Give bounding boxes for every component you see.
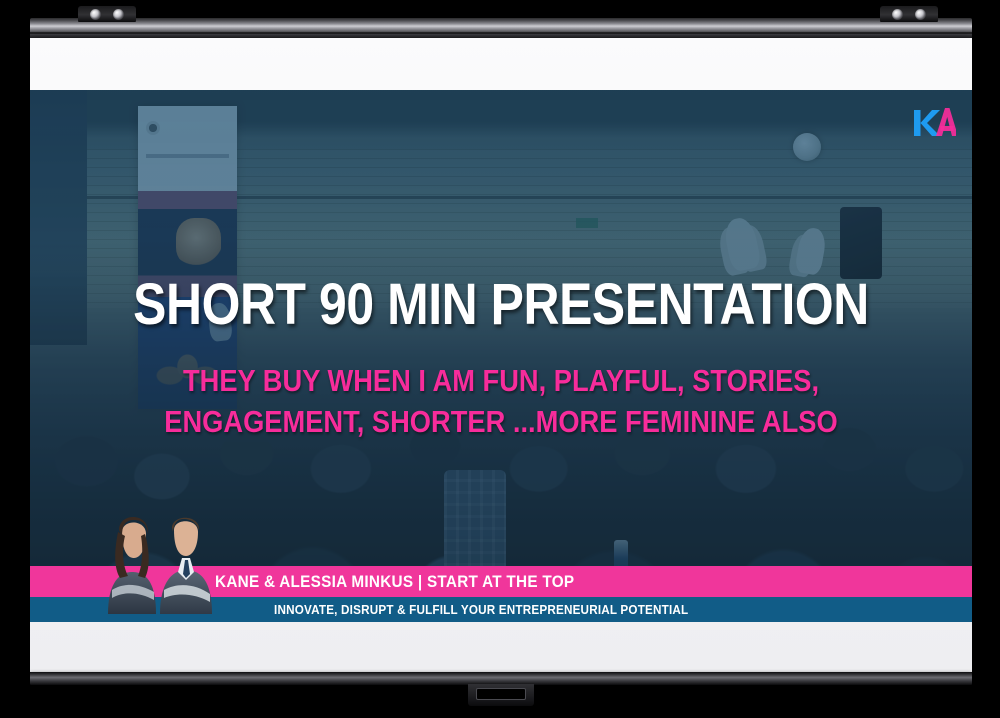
- projector-screen-assembly: SHORT 90 MIN PRESENTATION THEY BUY WHEN …: [0, 0, 1000, 718]
- footer-tagline: INNOVATE, DISRUPT & FULFILL YOUR ENTREPR…: [274, 602, 688, 617]
- wall-bracket-right: [880, 6, 938, 22]
- slide-subtitle-line-1: THEY BUY WHEN I AM FUN, PLAYFUL, STORIES…: [139, 360, 862, 401]
- wall-bracket-left: [78, 6, 136, 22]
- footer-presenters: KANE & ALESSIA MINKUS | START AT THE TOP: [215, 572, 574, 592]
- slide-subtitle: THEY BUY WHEN I AM FUN, PLAYFUL, STORIES…: [139, 360, 862, 442]
- slide-subtitle-line-2: ENGAGEMENT, SHORTER ...MORE FEMININE ALS…: [139, 401, 862, 442]
- ka-monogram-logo: [912, 102, 956, 142]
- presentation-slide: SHORT 90 MIN PRESENTATION THEY BUY WHEN …: [30, 90, 972, 622]
- slide-title: SHORT 90 MIN PRESENTATION: [96, 276, 906, 334]
- screen-pull-handle[interactable]: [468, 684, 534, 706]
- bracket-bolt: [113, 9, 124, 20]
- bracket-bolt: [915, 9, 926, 20]
- presenters-portrait: [98, 506, 220, 614]
- screen-top-casing: [30, 18, 972, 40]
- bracket-bolt: [892, 9, 903, 20]
- bracket-bolt: [90, 9, 101, 20]
